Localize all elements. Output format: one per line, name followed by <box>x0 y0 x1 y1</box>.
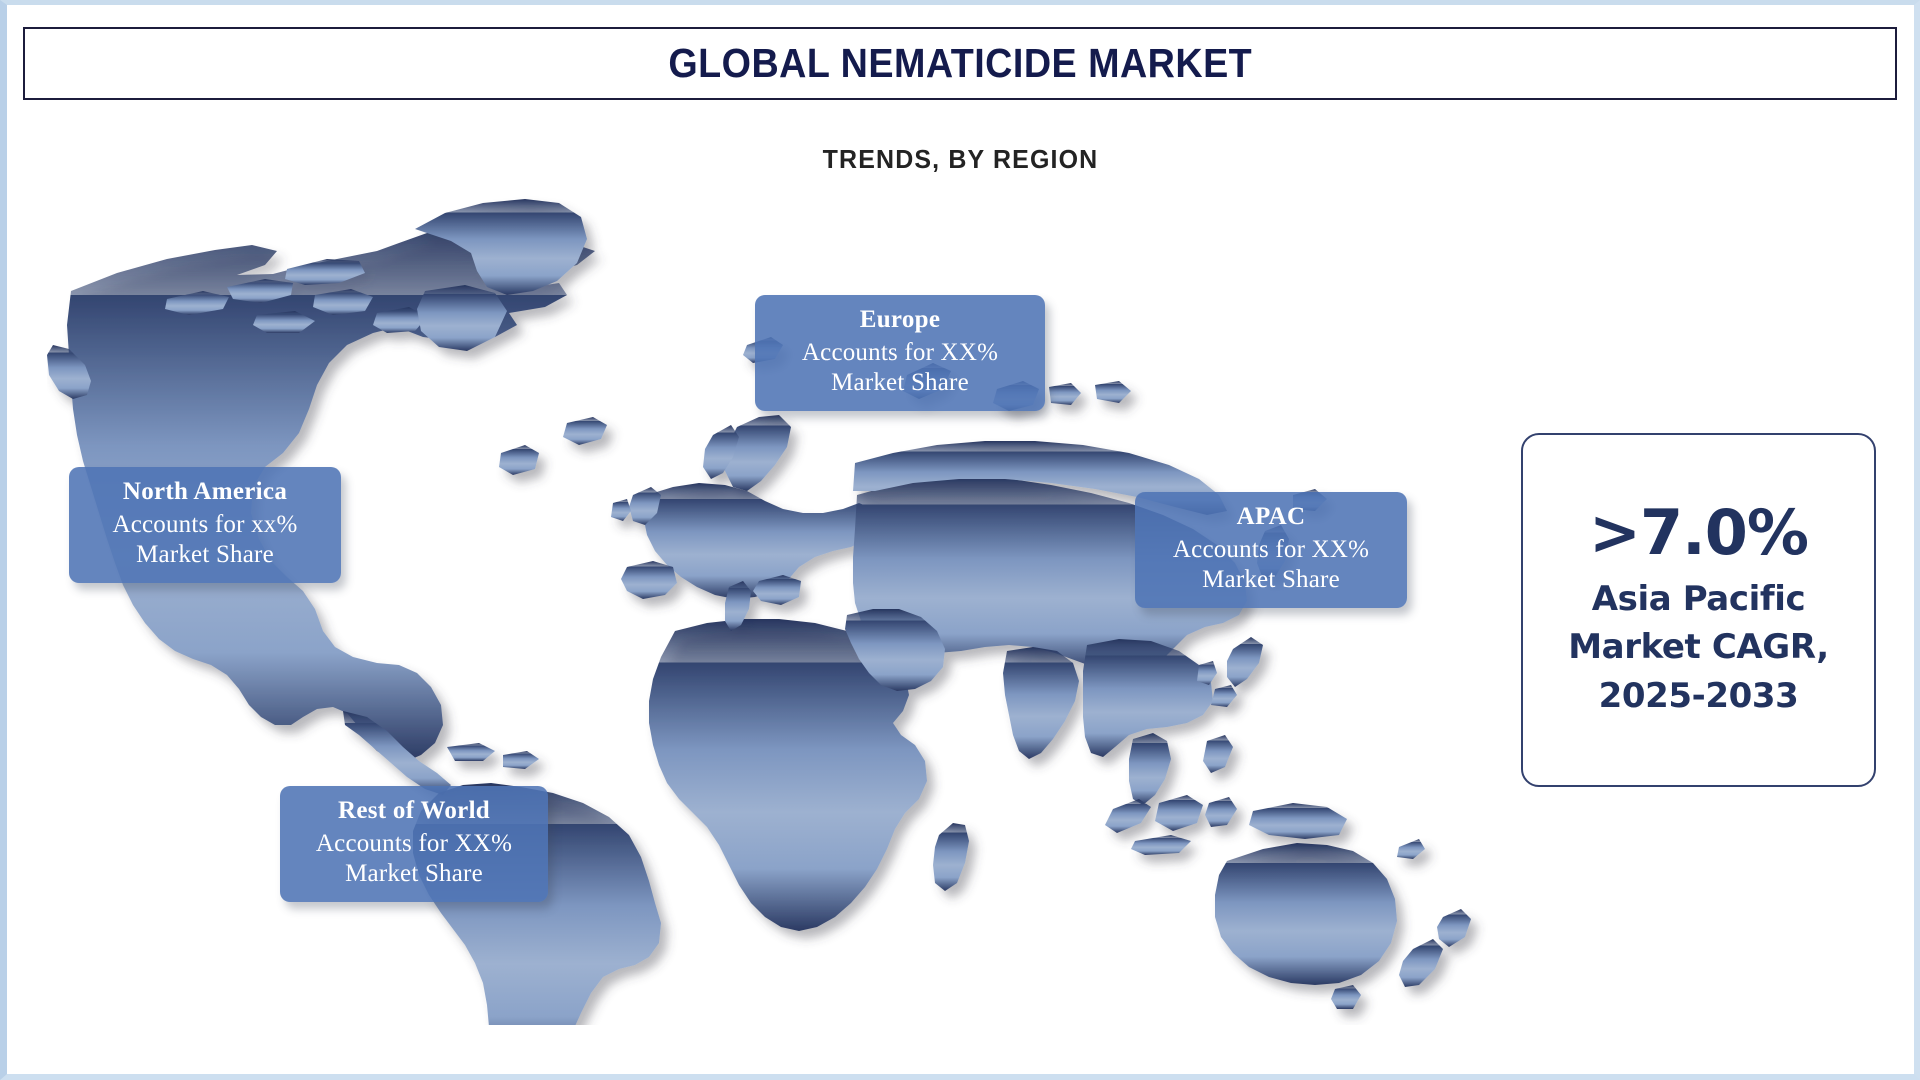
region-share-line-apac: Accounts for XX% <box>1149 535 1393 566</box>
landmass-japan-south <box>1211 685 1237 707</box>
region-name-europe: Europe <box>769 305 1031 336</box>
title-banner: GLOBAL NEMATICIDE MARKET <box>23 27 1897 100</box>
landmass-baffin <box>417 285 507 351</box>
landmass-india <box>1003 647 1079 759</box>
page-canvas: GLOBAL NEMATICIDE MARKET TRENDS, BY REGI… <box>7 5 1914 1074</box>
landmass-siberia-islands-2 <box>1049 383 1081 405</box>
region-share-line-north-america: Accounts for xx% <box>83 510 327 541</box>
page-title: GLOBAL NEMATICIDE MARKET <box>668 40 1252 87</box>
landmass-japan <box>1227 637 1263 687</box>
landmass-sulawesi <box>1205 797 1237 827</box>
landmass-caribbean-1 <box>447 743 495 761</box>
region-name-north-america: North America <box>83 477 327 508</box>
landmass-tasmania <box>1331 985 1361 1009</box>
landmass-philippines <box>1203 735 1233 773</box>
region-callout-north-america[interactable]: North America Accounts for xx% Market Sh… <box>69 467 341 583</box>
landmass-borneo <box>1155 795 1203 831</box>
cagr-value: >7.0% <box>1589 500 1808 565</box>
cagr-metric-label: Market CAGR, <box>1568 623 1829 671</box>
landmass-iceland <box>563 417 607 445</box>
region-share-label-apac: Market Share <box>1149 565 1393 596</box>
infographic-page: GLOBAL NEMATICIDE MARKET TRENDS, BY REGI… <box>0 0 1920 1080</box>
region-share-line-rest-of-world: Accounts for XX% <box>294 829 534 860</box>
region-callout-europe[interactable]: Europe Accounts for XX% Market Share <box>755 295 1045 411</box>
region-share-line-europe: Accounts for XX% <box>769 338 1031 369</box>
landmass-java <box>1131 835 1191 855</box>
region-name-apac: APAC <box>1149 502 1393 533</box>
landmass-iberia <box>621 561 677 599</box>
region-share-label-europe: Market Share <box>769 368 1031 399</box>
landmass-pacific-island-small <box>1397 839 1425 859</box>
landmass-korea <box>1197 661 1217 685</box>
landmass-new-zealand-south <box>1399 939 1443 987</box>
cagr-callout-card: >7.0% Asia Pacific Market CAGR, 2025-203… <box>1521 433 1876 787</box>
region-callout-rest-of-world[interactable]: Rest of World Accounts for XX% Market Sh… <box>280 786 548 902</box>
cagr-region-label: Asia Pacific <box>1592 575 1806 623</box>
region-share-label-north-america: Market Share <box>83 540 327 571</box>
landmass-sumatra <box>1105 799 1151 833</box>
cagr-period-label: 2025-2033 <box>1599 672 1799 720</box>
landmass-caribbean-2 <box>503 751 539 769</box>
landmass-madagascar <box>933 823 969 891</box>
landmass-siberia-islands-3 <box>1095 381 1131 403</box>
page-subtitle: TRENDS, BY REGION <box>45 144 1876 175</box>
landmass-ireland <box>611 499 631 521</box>
region-name-rest-of-world: Rest of World <box>294 796 534 827</box>
landmass-scandinavia <box>725 415 791 491</box>
region-callout-apac[interactable]: APAC Accounts for XX% Market Share <box>1135 492 1407 608</box>
landmass-indochina <box>1129 733 1171 805</box>
landmass-new-zealand-north <box>1437 909 1471 947</box>
landmass-newfoundland <box>499 445 539 475</box>
region-share-label-rest-of-world: Market Share <box>294 859 534 890</box>
landmass-new-guinea <box>1249 803 1347 839</box>
landmass-australia <box>1215 843 1397 985</box>
